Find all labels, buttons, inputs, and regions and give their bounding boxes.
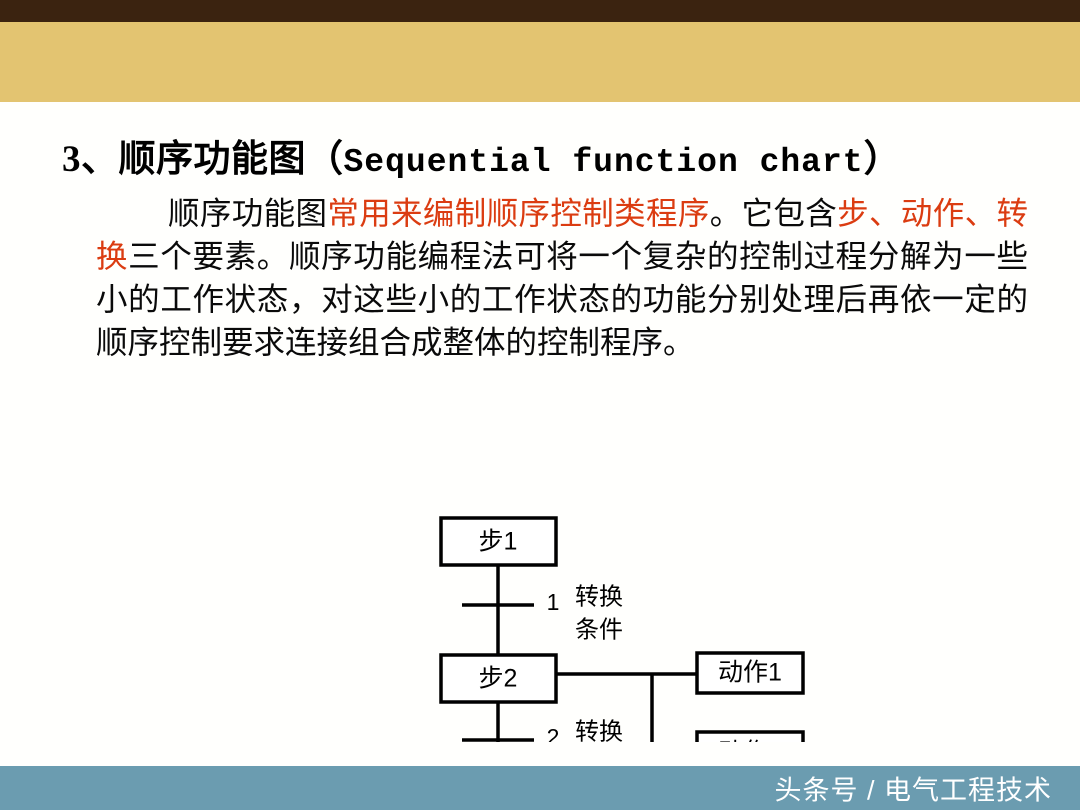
body-paragraph: 顺序功能图常用来编制顺序控制类程序。它包含步、动作、转换三个要素。顺序功能编程法… bbox=[96, 192, 1028, 364]
footer-bar: 头条号 / 电气工程技术 bbox=[0, 766, 1080, 810]
footer-watermark-text: 头条号 / 电气工程技术 bbox=[774, 769, 1052, 808]
transition-condition-1-line2: 条件 bbox=[575, 616, 623, 643]
transition-condition-2-line1: 转换 bbox=[575, 718, 623, 742]
paragraph-segment-highlight-1: 常用来编制顺序控制类程序 bbox=[327, 196, 709, 231]
paragraph-segment-plain-2: 。它包含 bbox=[710, 196, 837, 231]
action-box-1-label: 动作1 bbox=[718, 659, 782, 687]
step-box-1-label: 步1 bbox=[479, 528, 518, 556]
step-box-2-label: 步2 bbox=[479, 665, 518, 693]
transition-number-1: 1 bbox=[547, 589, 560, 615]
action-box-2-label: 动作2 bbox=[718, 739, 782, 742]
page-title: 3、顺序功能图（Sequential function chart） bbox=[62, 128, 1022, 182]
page-title-latin: Sequential function chart bbox=[344, 144, 864, 181]
paragraph-segment-plain-1: 顺序功能图 bbox=[168, 196, 327, 231]
header-tan-band bbox=[0, 22, 1080, 102]
slide-content-area: 3、顺序功能图（Sequential function chart） 顺序功能图… bbox=[0, 102, 1080, 766]
header-dark-band bbox=[0, 0, 1080, 22]
transition-number-2: 2 bbox=[547, 724, 560, 742]
page-title-cjk-prefix: 3、顺序功能图（ bbox=[62, 139, 344, 180]
sequential-function-chart-diagram: 步1 步2 步3 1 2 转换 条件 转换 条件 动作1 bbox=[420, 402, 840, 742]
paragraph-segment-plain-3: 三个要素。顺序功能编程法可将一个复杂的控制过程分解为一些小的工作状态，对这些小的… bbox=[96, 239, 1028, 360]
page-title-cjk-suffix: ） bbox=[864, 139, 902, 180]
transition-condition-1-line1: 转换 bbox=[575, 583, 623, 610]
